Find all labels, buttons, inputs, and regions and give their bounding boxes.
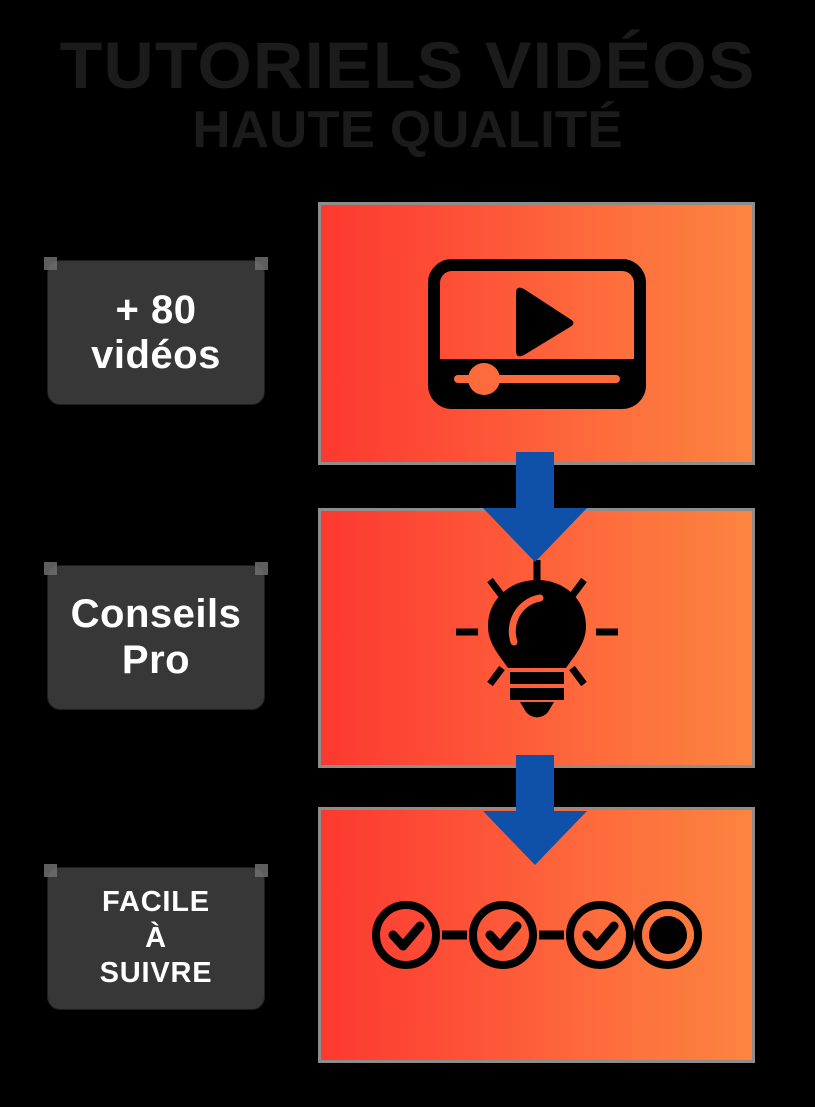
title-main: TUTORIELS VIDÉOS: [0, 34, 815, 97]
chip-videos-line-2: vidéos: [91, 333, 221, 377]
chip-tips-label: Conseils Pro: [48, 592, 264, 683]
chip-videos[interactable]: + 80 vidéos: [48, 261, 264, 404]
chip-tips[interactable]: Conseils Pro: [48, 566, 264, 709]
video-player-icon: [428, 259, 646, 409]
chip-steps-line-2: À: [145, 922, 167, 954]
page-title: TUTORIELS VIDÉOS HAUTE QUALITÉ: [0, 0, 815, 157]
lightbulb-icon: [452, 558, 622, 718]
chip-videos-line-1: + 80: [116, 288, 197, 332]
title-subtitle: HAUTE QUALITÉ: [0, 103, 815, 158]
arrow-down-1: [483, 452, 587, 562]
progress-steps-icon: [372, 895, 702, 975]
chip-steps-line-3: SUIVRE: [100, 957, 213, 989]
chip-tips-line-2: Pro: [122, 638, 190, 682]
arrow-down-2: [483, 755, 587, 865]
chip-steps-label: FACILE À SUIVRE: [48, 885, 264, 993]
chip-videos-label: + 80 vidéos: [48, 288, 264, 378]
chip-steps-line-1: FACILE: [102, 886, 210, 918]
arrow-down-icon: [483, 755, 587, 865]
chip-tips-line-1: Conseils: [71, 592, 242, 636]
arrow-down-icon: [483, 452, 587, 562]
panel-video[interactable]: [321, 205, 752, 462]
chip-steps[interactable]: FACILE À SUIVRE: [48, 868, 264, 1009]
